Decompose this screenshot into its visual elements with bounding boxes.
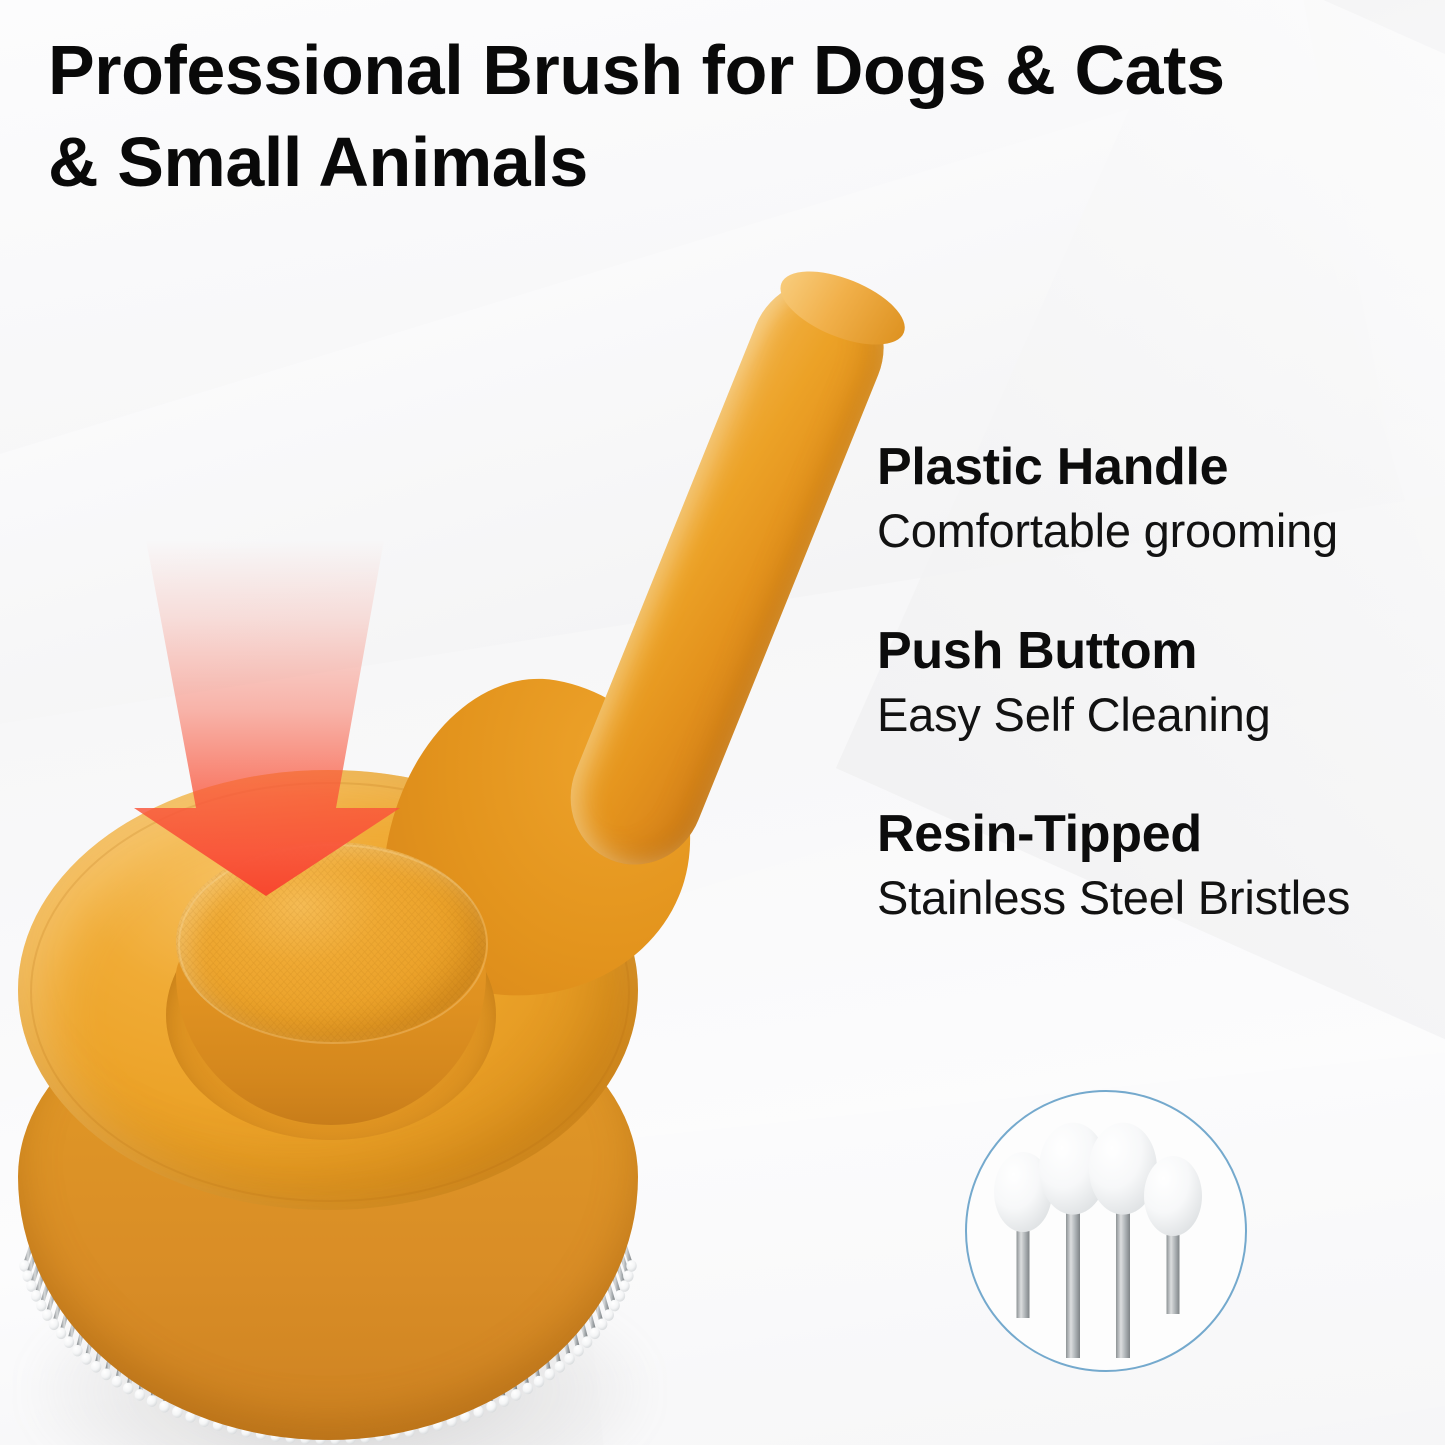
feature-item-plastic-handle: Plastic Handle Comfortable grooming bbox=[877, 438, 1437, 560]
feature-subtext: Stainless Steel Bristles bbox=[877, 869, 1437, 926]
bristle-closeup-inset bbox=[965, 1090, 1247, 1372]
feature-item-push-button: Push Buttom Easy Self Cleaning bbox=[877, 622, 1437, 744]
feature-item-resin-tipped: Resin-Tipped Stainless Steel Bristles bbox=[877, 805, 1437, 927]
feature-heading: Plastic Handle bbox=[877, 438, 1437, 496]
page-title: Professional Brush for Dogs & Cats & Sma… bbox=[48, 24, 1388, 209]
infographic-canvas: Professional Brush for Dogs & Cats & Sma… bbox=[0, 0, 1445, 1445]
handle-shaft bbox=[550, 260, 905, 884]
feature-list: Plastic Handle Comfortable grooming Push… bbox=[877, 438, 1437, 927]
resin-tip-pins-icon bbox=[961, 1086, 1261, 1406]
product-image bbox=[0, 210, 960, 1445]
press-down-arrow-icon bbox=[100, 540, 430, 900]
feature-heading: Resin-Tipped bbox=[877, 805, 1437, 863]
feature-heading: Push Buttom bbox=[877, 622, 1437, 680]
feature-subtext: Easy Self Cleaning bbox=[877, 686, 1437, 743]
feature-subtext: Comfortable grooming bbox=[877, 502, 1437, 559]
